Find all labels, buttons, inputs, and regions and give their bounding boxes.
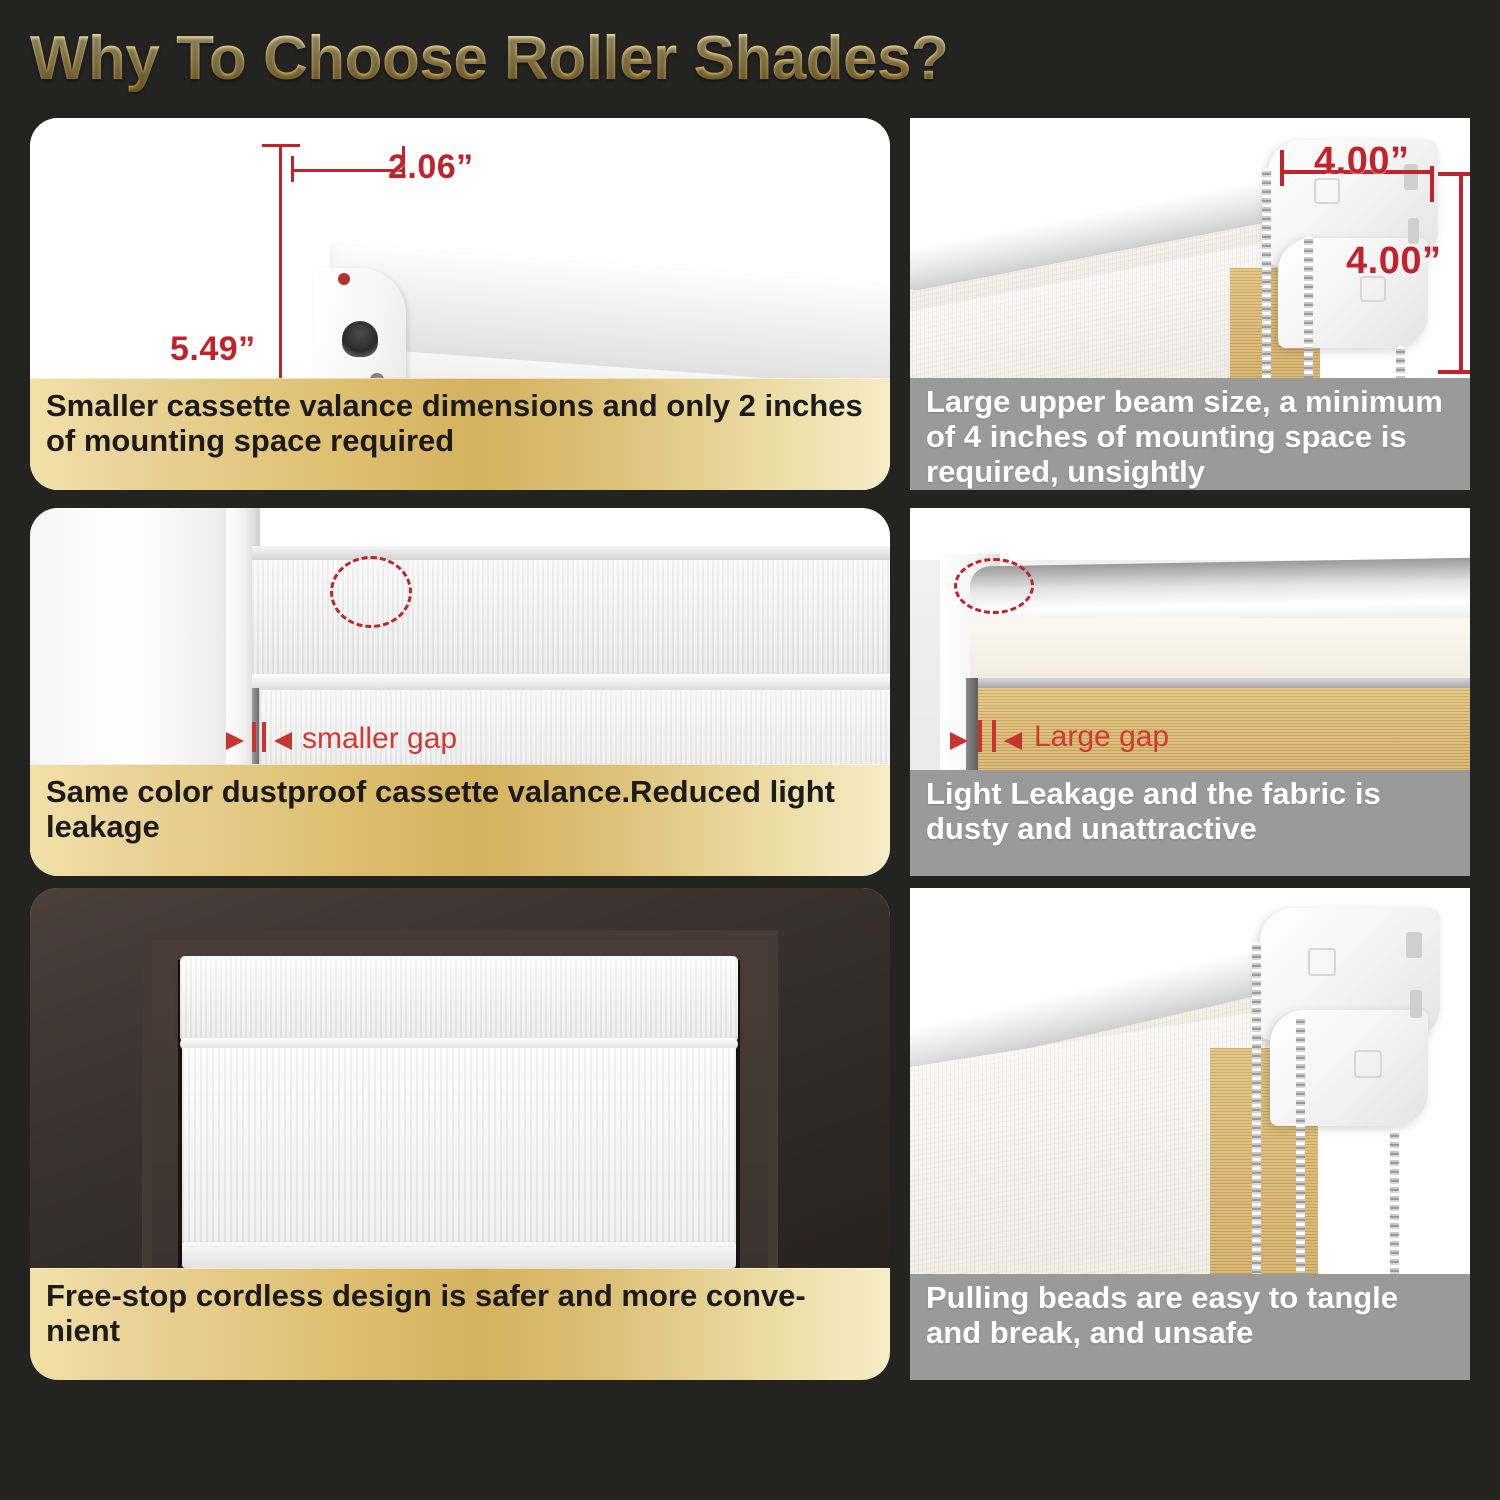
- panel-4-caption: Light Leakage and the fabric is dusty an…: [910, 770, 1470, 876]
- depth-dimension-tick-left: [291, 156, 294, 182]
- height-dimension-label: 5.49”: [170, 330, 256, 369]
- page-title-text: Why To Choose Roller Shades?: [30, 23, 948, 94]
- gap-arrow-left-icon: [274, 732, 292, 750]
- width-dimension-tick-left: [1280, 150, 1284, 186]
- roller-shade-panel: [182, 1048, 736, 1262]
- bracket-arrow-icon-c: [1308, 948, 1336, 976]
- detail-highlight-circle: [330, 556, 412, 628]
- gap-marker-right: [262, 722, 266, 752]
- gap-marker-left-2: [978, 720, 982, 752]
- bracket-arrow-icon-d: [1354, 1050, 1382, 1078]
- gap-callout-label: smaller gap: [302, 722, 457, 756]
- panel-2-caption: Large upper beam size, a minimum of 4 in…: [910, 378, 1470, 490]
- width-dimension-tick-right: [1430, 166, 1434, 202]
- gap-arrow-right-icon: [226, 732, 244, 750]
- bead-chain-left: [1262, 168, 1271, 398]
- detail-highlight-circle-2: [954, 558, 1034, 614]
- bottom-rail: [182, 1242, 736, 1268]
- panel-6-caption: Pulling beads are easy to tangle and bre…: [910, 1274, 1470, 1380]
- panel-smaller-cassette: 5.49” 2.06” Smaller cassette valance dim…: [30, 118, 890, 490]
- end-cap-top-screw: [338, 273, 350, 285]
- panel-3-caption: Same color dustproof cassette valance.Re…: [30, 764, 890, 876]
- gap-marker-left: [252, 722, 256, 752]
- panel-dustproof-valance: smaller gap Same color dustproof cassett…: [30, 508, 890, 876]
- bead-chain-middle: [1304, 236, 1313, 398]
- infographic-root: Why To Choose Roller Shades? 5.49” 2.06”…: [0, 0, 1500, 1500]
- height-dimension-tick-top: [262, 144, 300, 147]
- width-dimension-label: 4.00”: [1314, 140, 1409, 183]
- panel-pulling-beads: Pulling beads are easy to tangle and bre…: [910, 888, 1470, 1380]
- panel-large-upper-beam: 4.00” 4.00” Large upper beam size, a min…: [910, 118, 1470, 490]
- height-dimension-tick-bottom-2: [1438, 370, 1470, 374]
- panel-light-leakage: Large gap Light Leakage and the fabric i…: [910, 508, 1470, 876]
- end-cap-port: [342, 321, 378, 357]
- bracket-slot-a-2: [1406, 932, 1422, 958]
- gap-arrow-left-icon-2: [1004, 732, 1022, 750]
- panel-cordless-design: Free-stop cordless design is safer and m…: [30, 888, 890, 1380]
- panel-5-caption: Free-stop cordless design is safer and m…: [30, 1268, 890, 1380]
- height-dimension-line-2: [1459, 172, 1463, 374]
- page-title: Why To Choose Roller Shades?: [30, 18, 1130, 98]
- height-dimension-tick-top-2: [1438, 172, 1470, 176]
- gap-callout-label-2: Large gap: [1034, 720, 1169, 754]
- gap-arrow-right-icon-2: [950, 732, 968, 750]
- ceiling-strip: [910, 508, 1470, 560]
- white-fabric-band: [970, 618, 1470, 680]
- fabric-divider: [970, 678, 1470, 688]
- depth-dimension-label: 2.06”: [388, 148, 474, 187]
- height-dimension-label-2: 4.00”: [1346, 240, 1441, 283]
- bracket-slot-b-2: [1410, 990, 1422, 1018]
- panel-1-caption: Smaller cassette valance dimensions and …: [30, 378, 890, 490]
- roller-tube-top: [970, 557, 1470, 624]
- gap-marker-right-2: [992, 720, 996, 752]
- mounting-bracket-lower-2: [1270, 1010, 1428, 1126]
- cassette-valance-installed: [180, 956, 738, 1042]
